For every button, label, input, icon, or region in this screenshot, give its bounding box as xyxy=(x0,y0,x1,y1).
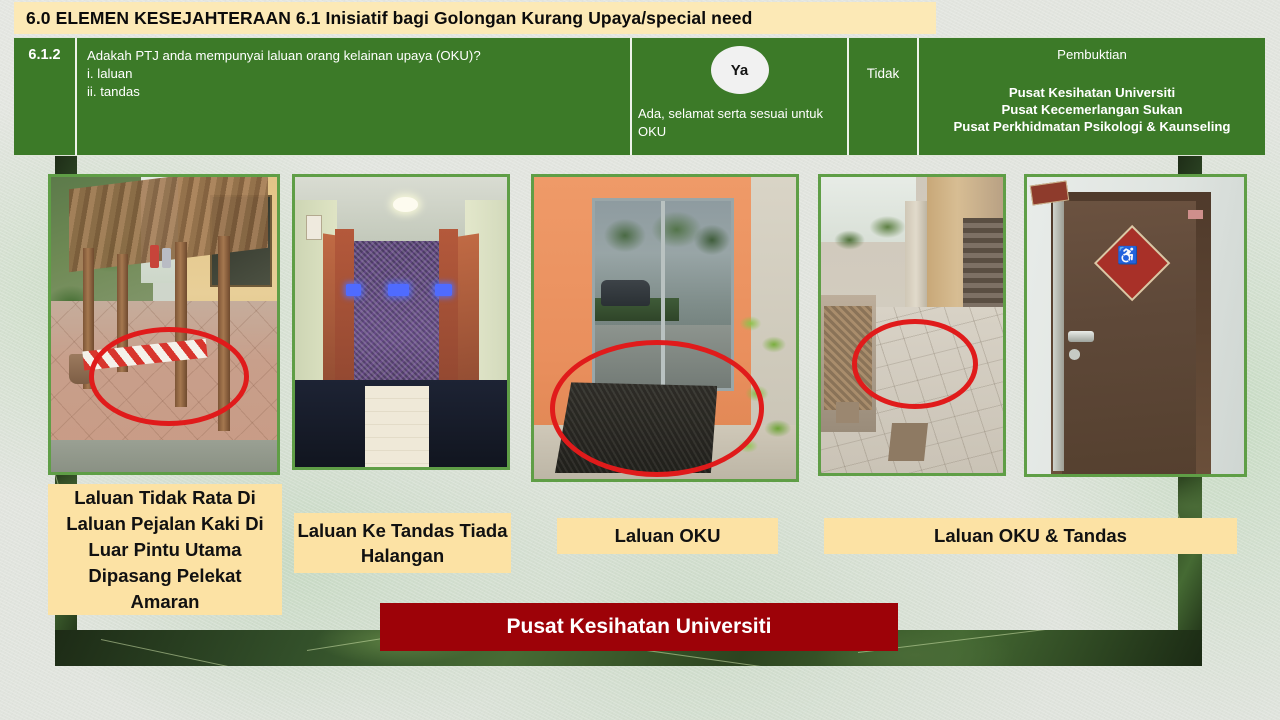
door-tag xyxy=(1188,210,1203,219)
caption-box-2: Laluan Ke Tandas Tiada Halangan xyxy=(294,513,511,573)
criteria-code: 6.1.2 xyxy=(28,47,60,155)
question-line-main: Adakah PTJ anda mempunyai laluan orang k… xyxy=(87,47,620,65)
wheelchair-icon: ♿ xyxy=(1108,247,1147,277)
evidence-list: Pusat Kesihatan Universiti Pusat Kecemer… xyxy=(919,84,1265,135)
answer-yes-note: Ada, selamat serta sesuai untuk OKU xyxy=(632,94,847,141)
answer-yes-cell[interactable]: Ya Ada, selamat serta sesuai untuk OKU xyxy=(630,38,847,155)
photo-content xyxy=(821,177,1003,473)
kerb xyxy=(51,440,277,472)
dark-floor-tile xyxy=(888,423,928,461)
answer-yes-marker[interactable]: Ya xyxy=(711,46,769,94)
highlight-ring xyxy=(89,327,248,426)
photo-content xyxy=(51,177,277,472)
photo-glass-entrance-ramp xyxy=(531,174,799,482)
neon-accent xyxy=(435,284,452,296)
evidence-item: Pusat Kesihatan Universiti xyxy=(919,84,1265,101)
vegetation xyxy=(821,201,916,266)
caption-box-1: Laluan Tidak Rata Di Laluan Pejalan Kaki… xyxy=(48,484,282,615)
evidence-item: Pusat Perkhidmatan Psikologi & Kaunselin… xyxy=(919,118,1265,135)
neon-accent xyxy=(388,284,409,296)
photo-content xyxy=(534,177,796,479)
door-lock xyxy=(1069,349,1080,359)
evidence-cell: Pembuktian Pusat Kesihatan Universiti Pu… xyxy=(917,38,1265,155)
caption-box-4: Laluan OKU & Tandas xyxy=(824,518,1237,554)
evidence-item: Pusat Kecemerlangan Sukan xyxy=(919,101,1265,118)
walkway-tiles xyxy=(365,386,429,467)
page-title: 6.0 ELEMEN KESEJAHTERAAN 6.1 Inisiatif b… xyxy=(14,8,752,29)
slide-canvas: 6.0 ELEMEN KESEJAHTERAAN 6.1 Inisiatif b… xyxy=(0,0,1280,720)
answer-no-cell[interactable]: Tidak xyxy=(847,38,917,155)
caption-box-3: Laluan OKU xyxy=(557,518,778,554)
highlight-ring xyxy=(550,340,764,477)
criteria-code-cell: 6.1.2 xyxy=(14,38,75,155)
criteria-table: 6.1.2 Adakah PTJ anda mempunyai laluan o… xyxy=(14,37,1265,156)
photo-content xyxy=(295,177,507,467)
neon-accent xyxy=(346,284,361,296)
photo-oku-walkway-tiles xyxy=(818,174,1006,476)
person-figure xyxy=(150,245,159,269)
door-jamb xyxy=(1053,195,1064,471)
answer-yes-label: Ya xyxy=(731,62,749,79)
slide-header-banner: 6.0 ELEMEN KESEJAHTERAAN 6.1 Inisiatif b… xyxy=(14,2,936,34)
wall-sign xyxy=(306,215,323,240)
criteria-question-cell: Adakah PTJ anda mempunyai laluan orang k… xyxy=(75,38,630,155)
question-line-ii: ii. tandas xyxy=(87,83,620,101)
reflected-car xyxy=(601,280,650,306)
staircase xyxy=(963,218,1003,319)
photo-oku-toilet-door: ♿ xyxy=(1024,174,1247,477)
dark-floor-tile xyxy=(836,402,860,423)
photo-content: ♿ xyxy=(1027,177,1244,474)
question-line-i: i. laluan xyxy=(87,65,620,83)
footer-banner: Pusat Kesihatan Universiti xyxy=(380,603,898,651)
answer-no-label: Tidak xyxy=(867,66,900,155)
photo-corridor-to-toilet xyxy=(292,174,510,470)
highlight-ring xyxy=(852,319,978,409)
person-figure xyxy=(162,248,171,269)
evidence-header: Pembuktian xyxy=(919,47,1265,62)
ceiling-light xyxy=(393,197,418,212)
photo-covered-walkway-warning-sticker xyxy=(48,174,280,475)
door-handle xyxy=(1068,331,1094,341)
footer-label: Pusat Kesihatan Universiti xyxy=(507,615,772,639)
